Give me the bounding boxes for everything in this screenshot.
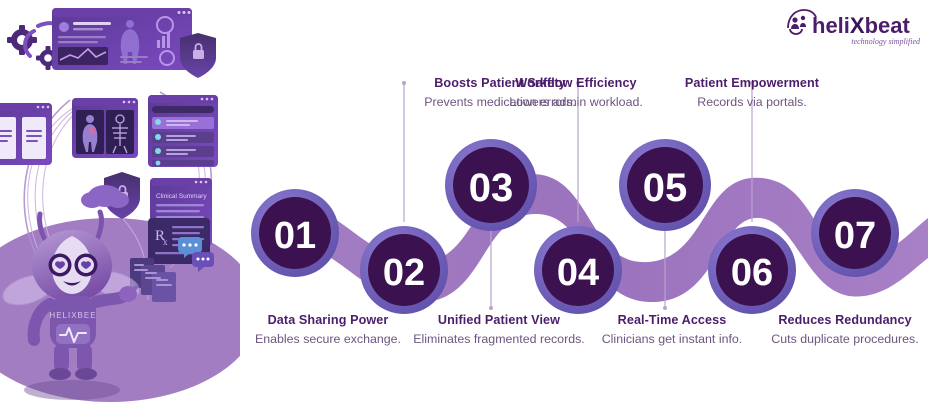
svg-text:Clinical Summary: Clinical Summary xyxy=(156,193,207,200)
step-desc-03: Eliminates fragmented records. xyxy=(404,331,594,347)
healthcare-illustration: Clinical Summary R x xyxy=(0,0,240,409)
svg-text:03: 03 xyxy=(469,166,514,210)
logo-wordmark: heliXbeat xyxy=(812,13,911,38)
step-desc-06: Records via portals. xyxy=(657,94,847,110)
documents-panel xyxy=(0,103,52,165)
svg-text:07: 07 xyxy=(834,215,876,257)
step-label-07: Reduces Redundancy Cuts duplicate proced… xyxy=(750,312,936,347)
step-circle-04[interactable]: 04 xyxy=(534,226,622,314)
records-list-panel xyxy=(148,95,218,167)
helixbeat-logo[interactable]: heliXbeat technology simplified xyxy=(786,8,922,48)
shield-lock-icon xyxy=(180,33,216,78)
step-circle-01[interactable]: 01 xyxy=(251,189,339,277)
mascot-chest-text: HELIXBEE xyxy=(49,311,96,320)
step-circle-03[interactable]: 03 xyxy=(445,139,537,231)
step-title-06: Patient Empowerment xyxy=(657,75,847,92)
step-title-01: Data Sharing Power xyxy=(233,312,423,329)
svg-text:05: 05 xyxy=(643,166,688,210)
step-circle-02[interactable]: 02 xyxy=(360,226,448,314)
step-label-06: Patient Empowerment Records via portals. xyxy=(657,75,847,110)
step-desc-07: Cuts duplicate procedures. xyxy=(750,331,936,347)
svg-text:06: 06 xyxy=(731,252,773,294)
step-label-05: Real-Time Access Clinicians get instant … xyxy=(577,312,767,347)
people-curve-icon-figures xyxy=(791,16,806,29)
step-title-04: Workflow Efficiency xyxy=(481,75,671,92)
step-desc-04: Lowers admin workload. xyxy=(481,94,671,110)
step-label-01: Data Sharing Power Enables secure exchan… xyxy=(233,312,423,347)
step-circle-05[interactable]: 05 xyxy=(619,139,711,231)
patient-health-record-panel xyxy=(52,8,192,70)
process-flow: 01 02 03 04 05 xyxy=(228,0,936,409)
step-title-03: Unified Patient View xyxy=(404,312,594,329)
infographic-canvas: Clinical Summary R x xyxy=(0,0,936,409)
step-circle-07[interactable]: 07 xyxy=(811,189,899,277)
step-desc-01: Enables secure exchange. xyxy=(233,331,423,347)
step-label-04: Workflow Efficiency Lowers admin workloa… xyxy=(481,75,671,110)
svg-text:01: 01 xyxy=(274,215,316,257)
logo-tagline: technology simplified xyxy=(851,37,921,46)
svg-text:x: x xyxy=(163,237,168,247)
step-label-03: Unified Patient View Eliminates fragment… xyxy=(404,312,594,347)
step-title-05: Real-Time Access xyxy=(577,312,767,329)
xray-scan-panel xyxy=(72,98,138,158)
step-circle-06[interactable]: 06 xyxy=(708,226,796,314)
svg-text:02: 02 xyxy=(383,252,425,294)
step-title-07: Reduces Redundancy xyxy=(750,312,936,329)
step-desc-05: Clinicians get instant info. xyxy=(577,331,767,347)
svg-text:04: 04 xyxy=(557,252,599,294)
